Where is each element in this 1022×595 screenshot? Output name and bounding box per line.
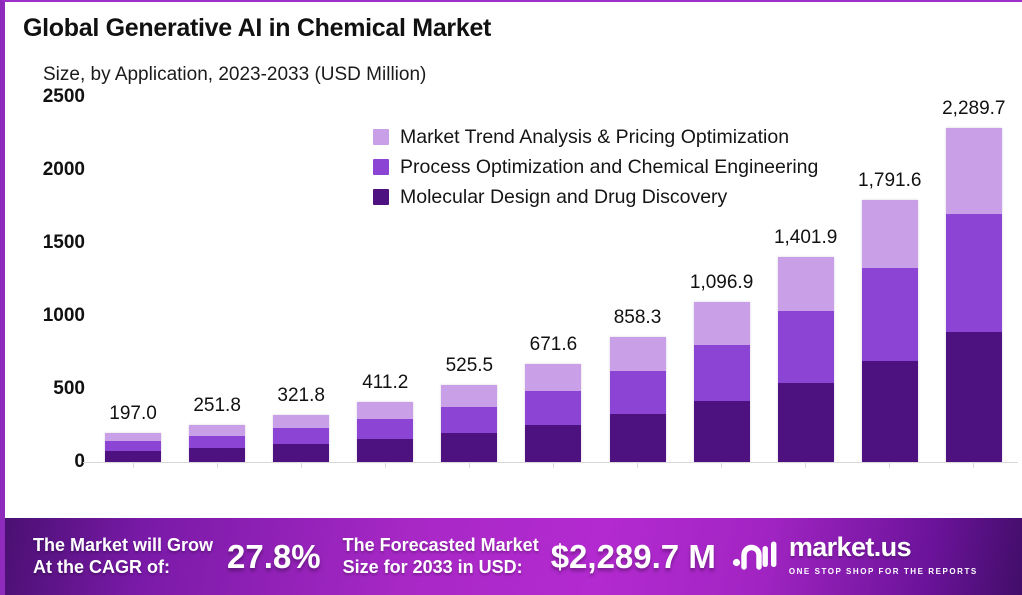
forecast-block: The Forecasted Market Size for 2033 in U… [343, 535, 716, 577]
bar-segment[interactable] [862, 268, 918, 360]
bar-value-label: 2,289.7 [942, 98, 1005, 120]
bar-group[interactable]: 197.0 [102, 97, 165, 462]
bar-segment[interactable] [525, 391, 581, 425]
x-axis-tick [721, 462, 722, 468]
bar-segment[interactable] [694, 302, 750, 345]
bar-value-label: 197.0 [109, 403, 157, 425]
bar-value-label: 251.8 [193, 395, 241, 417]
bar-group[interactable]: 1,791.6 [858, 97, 921, 462]
bar-segment[interactable] [862, 200, 918, 268]
forecast-caption-line2: Size for 2033 in USD: [343, 557, 523, 577]
bar-segment[interactable] [946, 128, 1002, 214]
bar-segment[interactable] [357, 419, 413, 440]
bar-value-label: 1,791.6 [858, 170, 921, 192]
legend-item[interactable]: Process Optimization and Chemical Engine… [373, 152, 818, 182]
bar-segment[interactable] [946, 214, 1002, 332]
bar-value-label: 671.6 [530, 334, 578, 356]
bar-stack[interactable] [946, 128, 1002, 462]
bar-value-label: 411.2 [362, 372, 408, 394]
logo-wordmark: market.us [789, 532, 911, 562]
bar-segment[interactable] [610, 371, 666, 415]
market-us-logo-text: market.us ONE STOP SHOP FOR THE REPORTS [789, 534, 1022, 579]
legend-swatch-icon [373, 129, 389, 145]
bar-group[interactable]: 251.8 [186, 97, 249, 462]
bar-segment[interactable] [946, 332, 1002, 462]
cagr-caption-line1: The Market will Grow [33, 535, 213, 555]
legend-item-label: Process Optimization and Chemical Engine… [400, 156, 818, 179]
forecast-caption: The Forecasted Market Size for 2033 in U… [343, 535, 539, 577]
chart-legend: Market Trend Analysis & Pricing Optimiza… [373, 122, 818, 212]
bar-segment[interactable] [862, 361, 918, 462]
x-axis-tick [973, 462, 974, 468]
bar-stack[interactable] [189, 425, 245, 462]
bar-value-label: 525.5 [446, 355, 494, 377]
legend-swatch-icon [373, 159, 389, 175]
y-axis-tick-label: 0 [11, 451, 85, 473]
bar-segment[interactable] [105, 451, 161, 462]
x-axis-tick [385, 462, 386, 468]
bar-segment[interactable] [441, 385, 497, 406]
bar-segment[interactable] [357, 439, 413, 462]
bar-value-label: 858.3 [614, 307, 662, 329]
cagr-caption: The Market will Grow At the CAGR of: [33, 535, 213, 577]
cagr-value: 27.8% [227, 538, 321, 576]
market-us-logo-icon [732, 537, 780, 576]
legend-swatch-icon [373, 189, 389, 205]
bar-stack[interactable] [862, 200, 918, 462]
bar-segment[interactable] [694, 401, 750, 462]
chart-page: Global Generative AI in Chemical Market … [0, 0, 1022, 595]
bar-segment[interactable] [273, 428, 329, 444]
logo-tagline: ONE STOP SHOP FOR THE REPORTS [789, 567, 978, 576]
bar-segment[interactable] [778, 311, 834, 383]
x-axis-tick [217, 462, 218, 468]
bar-group[interactable]: 2,289.7 [942, 97, 1005, 462]
legend-item[interactable]: Molecular Design and Drug Discovery [373, 182, 818, 212]
y-axis-tick-label: 1500 [11, 232, 85, 254]
x-axis-ticks [91, 462, 1016, 469]
bar-segment[interactable] [441, 407, 497, 433]
bar-stack[interactable] [610, 337, 666, 462]
x-axis-tick [469, 462, 470, 468]
x-axis-tick [553, 462, 554, 468]
x-axis-tick [805, 462, 806, 468]
y-axis-tick-label: 500 [11, 378, 85, 400]
x-axis-tick [637, 462, 638, 468]
bar-segment[interactable] [189, 448, 245, 462]
bar-segment[interactable] [694, 345, 750, 401]
bar-segment[interactable] [778, 257, 834, 311]
bar-value-label: 321.8 [277, 385, 325, 407]
x-axis-tick [133, 462, 134, 468]
bar-value-label: 1,096.9 [690, 272, 753, 294]
bar-segment[interactable] [525, 425, 581, 462]
bar-segment[interactable] [610, 337, 666, 371]
bar-stack[interactable] [525, 364, 581, 462]
bar-segment[interactable] [189, 436, 245, 449]
bar-stack[interactable] [694, 302, 750, 462]
bar-stack[interactable] [273, 415, 329, 462]
bar-segment[interactable] [525, 364, 581, 391]
y-axis: 05001000150020002500 [5, 97, 85, 472]
bar-stack[interactable] [441, 385, 497, 462]
cagr-caption-line2: At the CAGR of: [33, 557, 170, 577]
forecast-value: $2,289.7 M [551, 538, 716, 576]
legend-item-label: Molecular Design and Drug Discovery [400, 186, 727, 209]
y-axis-tick-label: 1000 [11, 305, 85, 327]
bar-segment[interactable] [273, 444, 329, 462]
bar-segment[interactable] [273, 415, 329, 428]
bar-stack[interactable] [778, 257, 834, 462]
market-us-logo[interactable]: market.us ONE STOP SHOP FOR THE REPORTS [732, 534, 1022, 579]
cagr-block: The Market will Grow At the CAGR of: 27.… [33, 535, 321, 577]
bar-segment[interactable] [610, 414, 666, 462]
bar-segment[interactable] [105, 433, 161, 441]
bar-stack[interactable] [357, 402, 413, 462]
bar-segment[interactable] [441, 433, 497, 462]
legend-item[interactable]: Market Trend Analysis & Pricing Optimiza… [373, 122, 818, 152]
x-axis-tick [301, 462, 302, 468]
page-title: Global Generative AI in Chemical Market [23, 14, 491, 43]
x-axis-tick [889, 462, 890, 468]
bar-value-label: 1,401.9 [774, 227, 837, 249]
legend-item-label: Market Trend Analysis & Pricing Optimiza… [400, 126, 789, 149]
y-axis-tick-label: 2000 [11, 159, 85, 181]
bar-group[interactable]: 321.8 [270, 97, 333, 462]
bar-segment[interactable] [357, 402, 413, 419]
chart-subtitle: Size, by Application, 2023-2033 (USD Mil… [43, 64, 426, 86]
bar-segment[interactable] [105, 441, 161, 451]
footer-banner: The Market will Grow At the CAGR of: 27.… [5, 518, 1022, 595]
y-axis-tick-label: 2500 [11, 86, 85, 108]
bar-stack[interactable] [105, 433, 161, 462]
bar-segment[interactable] [189, 425, 245, 435]
bar-segment[interactable] [778, 383, 834, 462]
forecast-caption-line1: The Forecasted Market [343, 535, 539, 555]
